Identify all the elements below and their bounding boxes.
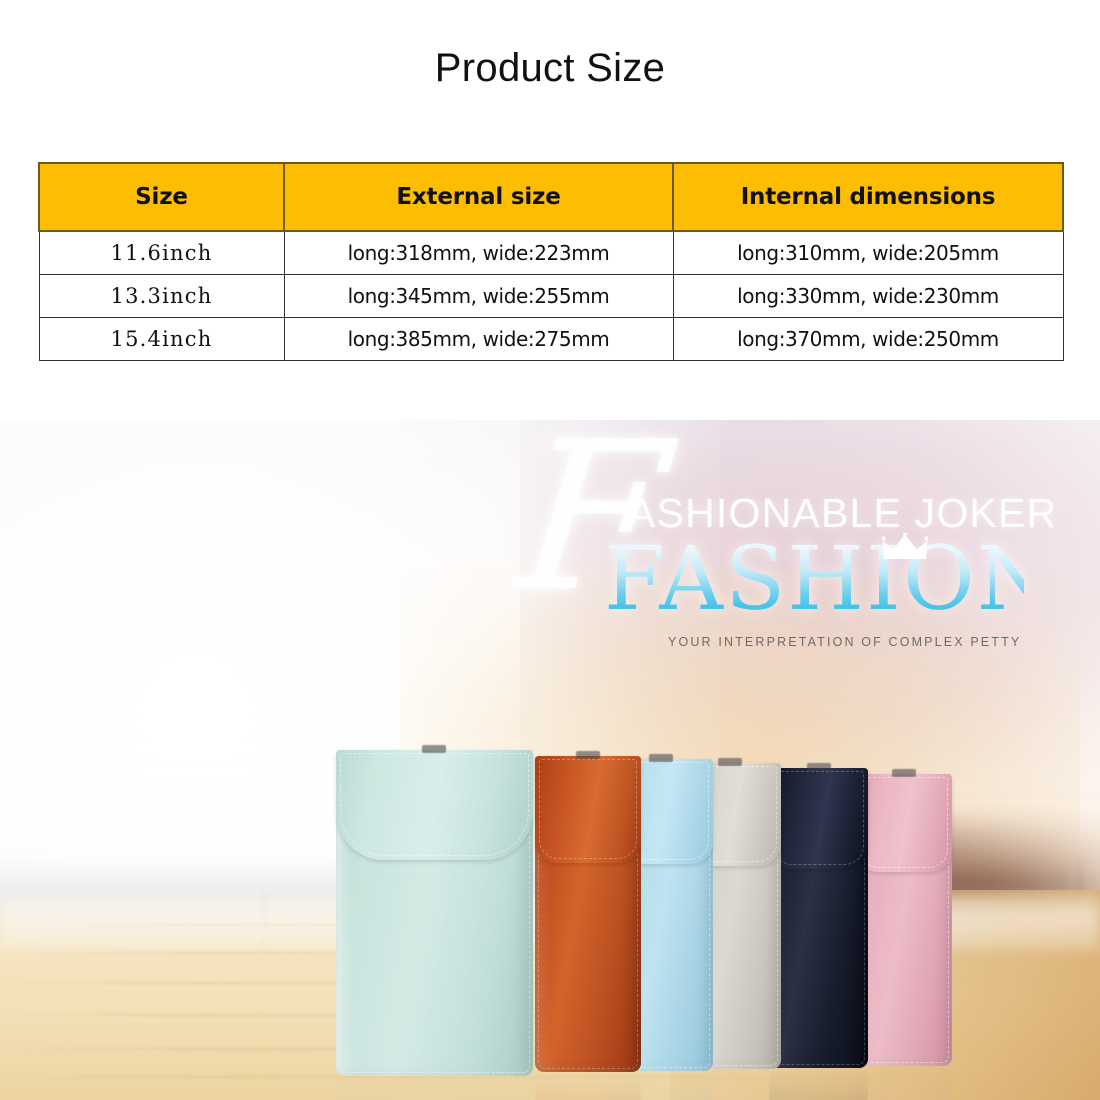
sleeve-tab [422,745,446,753]
cell-size: 13.3inch [39,274,284,317]
sleeve-reflection [336,1076,533,1100]
table-row: 15.4inch long:385mm, wide:275mm long:370… [39,317,1063,360]
cell-external: long:385mm, wide:275mm [284,317,673,360]
sleeve-flap-stitching [340,753,529,856]
sleeve-tab [807,763,831,771]
sleeve-tab [576,751,600,759]
cell-internal: long:330mm, wide:230mm [673,274,1063,317]
cell-external: long:345mm, wide:255mm [284,274,673,317]
product-sleeve-mint-green [336,750,533,1076]
sleeve-flap-stitching [773,771,864,865]
sleeve-flap [336,750,533,860]
column-header-internal: Internal dimensions [673,163,1063,231]
product-sleeve-pink [856,774,952,1066]
brand-logo-block: F ASHIONABLE JOKER FASHION YOUR INTERPRE… [500,430,1060,700]
page-title-wrap: Product Size [0,44,1100,92]
column-header-external: External size [284,163,673,231]
sleeve-flap [535,756,641,863]
table-header-row: Size External size Internal dimensions [39,163,1063,231]
table-row: 13.3inch long:345mm, wide:255mm long:330… [39,274,1063,317]
table-row: 11.6inch long:318mm, wide:223mm long:310… [39,231,1063,274]
column-header-size: Size [39,163,284,231]
cell-size: 15.4inch [39,317,284,360]
sleeve-flap-stitching [860,777,948,868]
sleeve-flap-stitching [539,759,637,859]
sleeve-tab [649,754,673,762]
crown-icon [882,533,928,560]
sleeve-tab [718,758,742,766]
brand-word-wrap: FASHION [604,535,1024,621]
product-sleeve-navy [769,768,868,1068]
sleeve-reflection [769,1068,868,1100]
brand-word: FASHION [604,535,1024,623]
cell-size: 11.6inch [39,231,284,274]
brand-tagline: YOUR INTERPRETATION OF COMPLEX PETTY [668,635,1021,649]
sleeve-tab [892,769,916,777]
cell-external: long:318mm, wide:223mm [284,231,673,274]
sleeve-reflection [856,1066,952,1100]
sleeve-flap [856,774,952,872]
product-sleeve-orange [535,756,641,1072]
sleeve-reflection [535,1072,641,1100]
page-title: Product Size [0,44,1100,92]
cell-internal: long:310mm, wide:205mm [673,231,1063,274]
lifestyle-photo: F ASHIONABLE JOKER FASHION YOUR INTERPRE… [0,420,1100,1100]
sleeve-flap [769,768,868,869]
product-size-table: Size External size Internal dimensions 1… [38,162,1064,361]
cell-internal: long:370mm, wide:250mm [673,317,1063,360]
product-size-page: Product Size Size External size Internal… [0,0,1100,1100]
